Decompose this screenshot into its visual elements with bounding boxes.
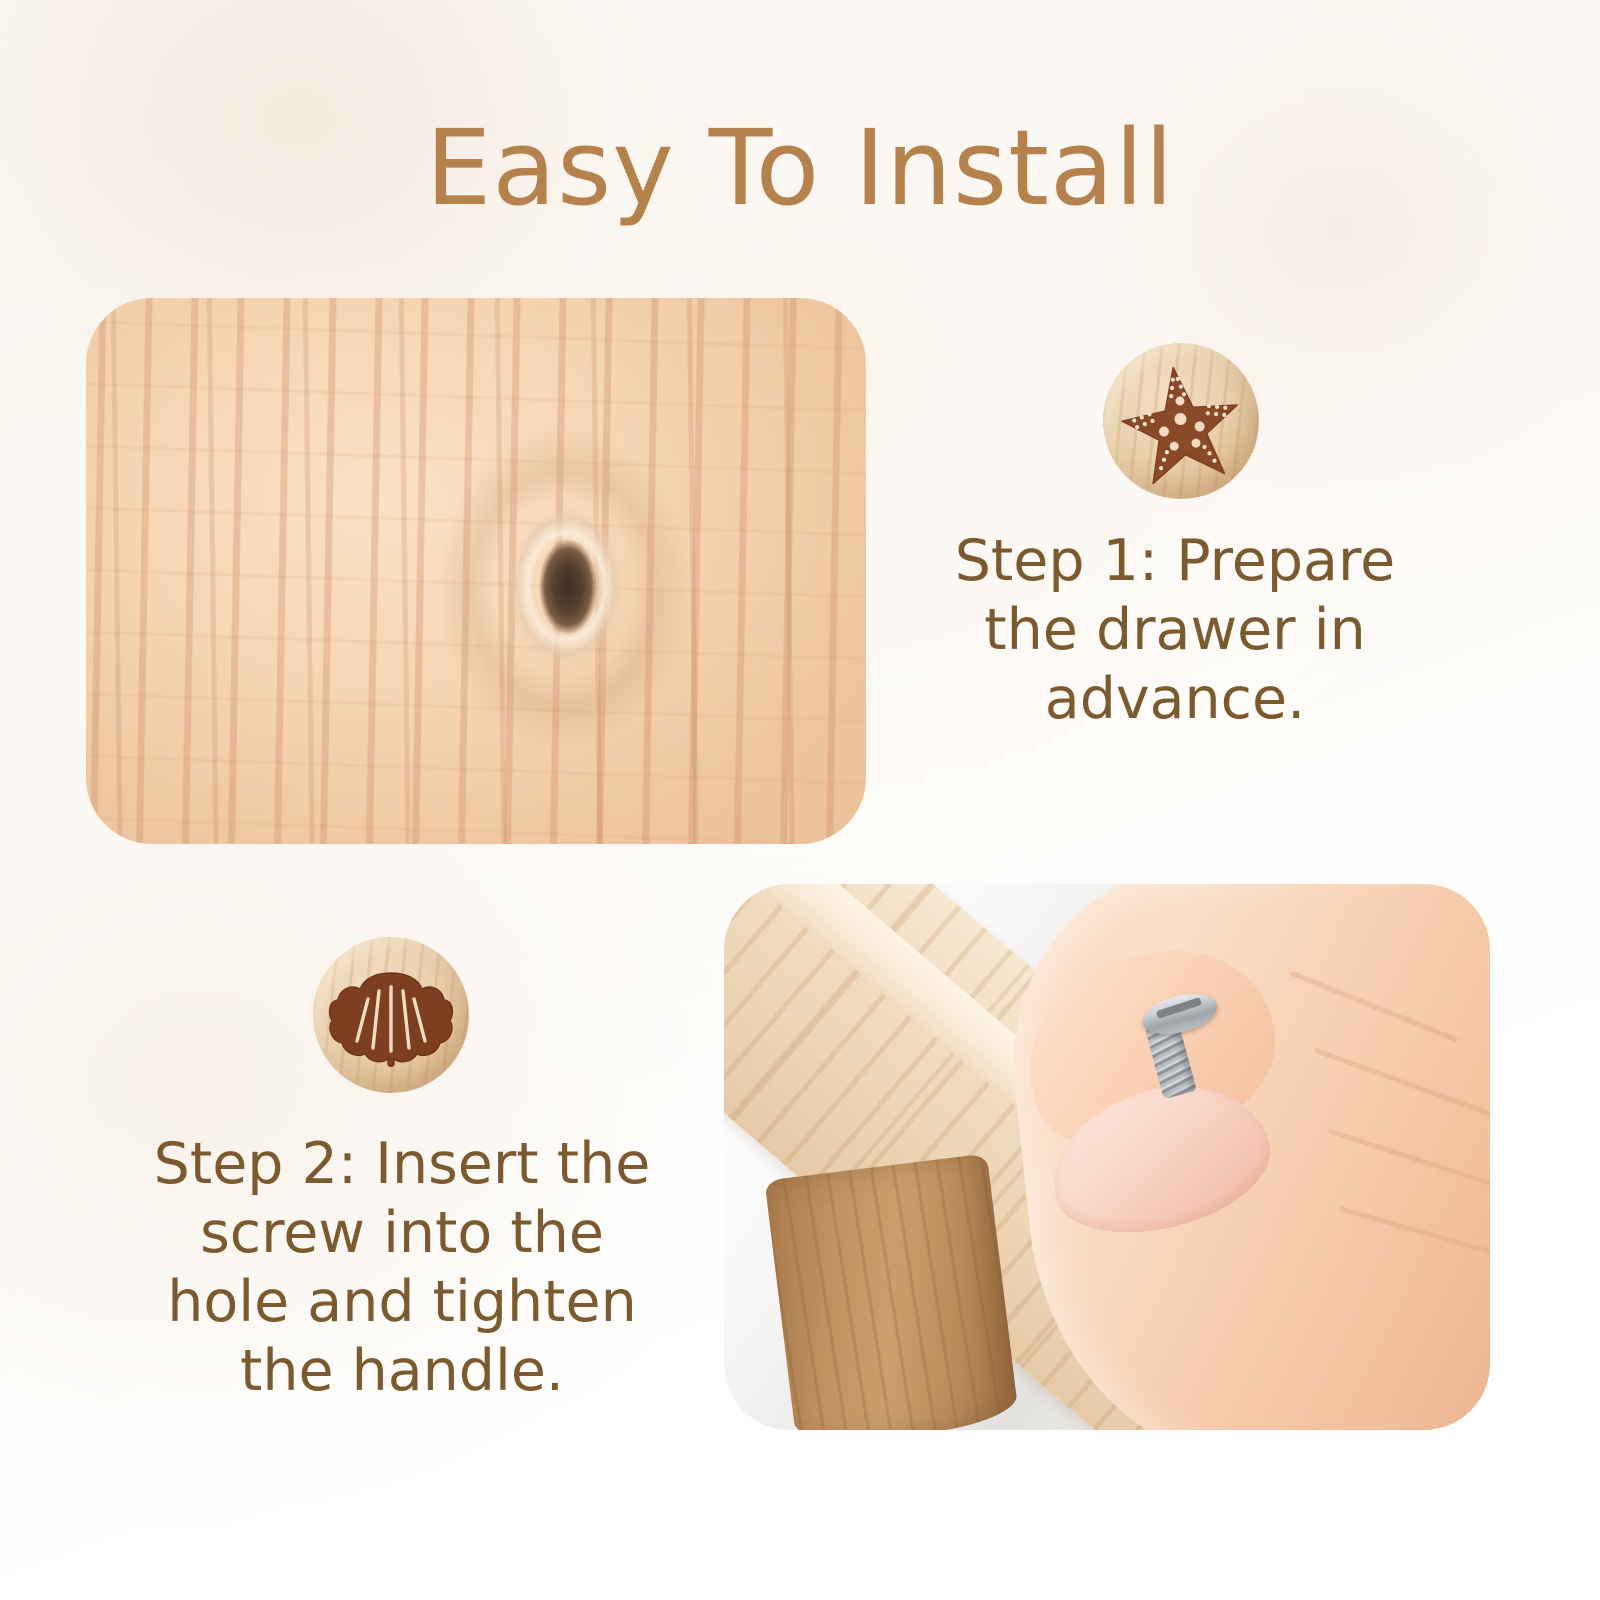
installed-knob — [764, 1153, 1019, 1430]
step-2-photo-screw-insert — [724, 884, 1490, 1430]
starfish-icon — [1103, 343, 1259, 499]
step-1-photo-drilled-hole — [86, 298, 866, 844]
page-title: Easy To Install — [0, 112, 1600, 224]
easy-to-install-infographic: Easy To Install — [0, 0, 1600, 1600]
step-1-caption: Step 1: Prepare the drawer in advance. — [940, 527, 1410, 734]
step-2-caption: Step 2: Insert the screw into the hole a… — [132, 1130, 672, 1406]
shell-icon — [313, 937, 469, 1093]
